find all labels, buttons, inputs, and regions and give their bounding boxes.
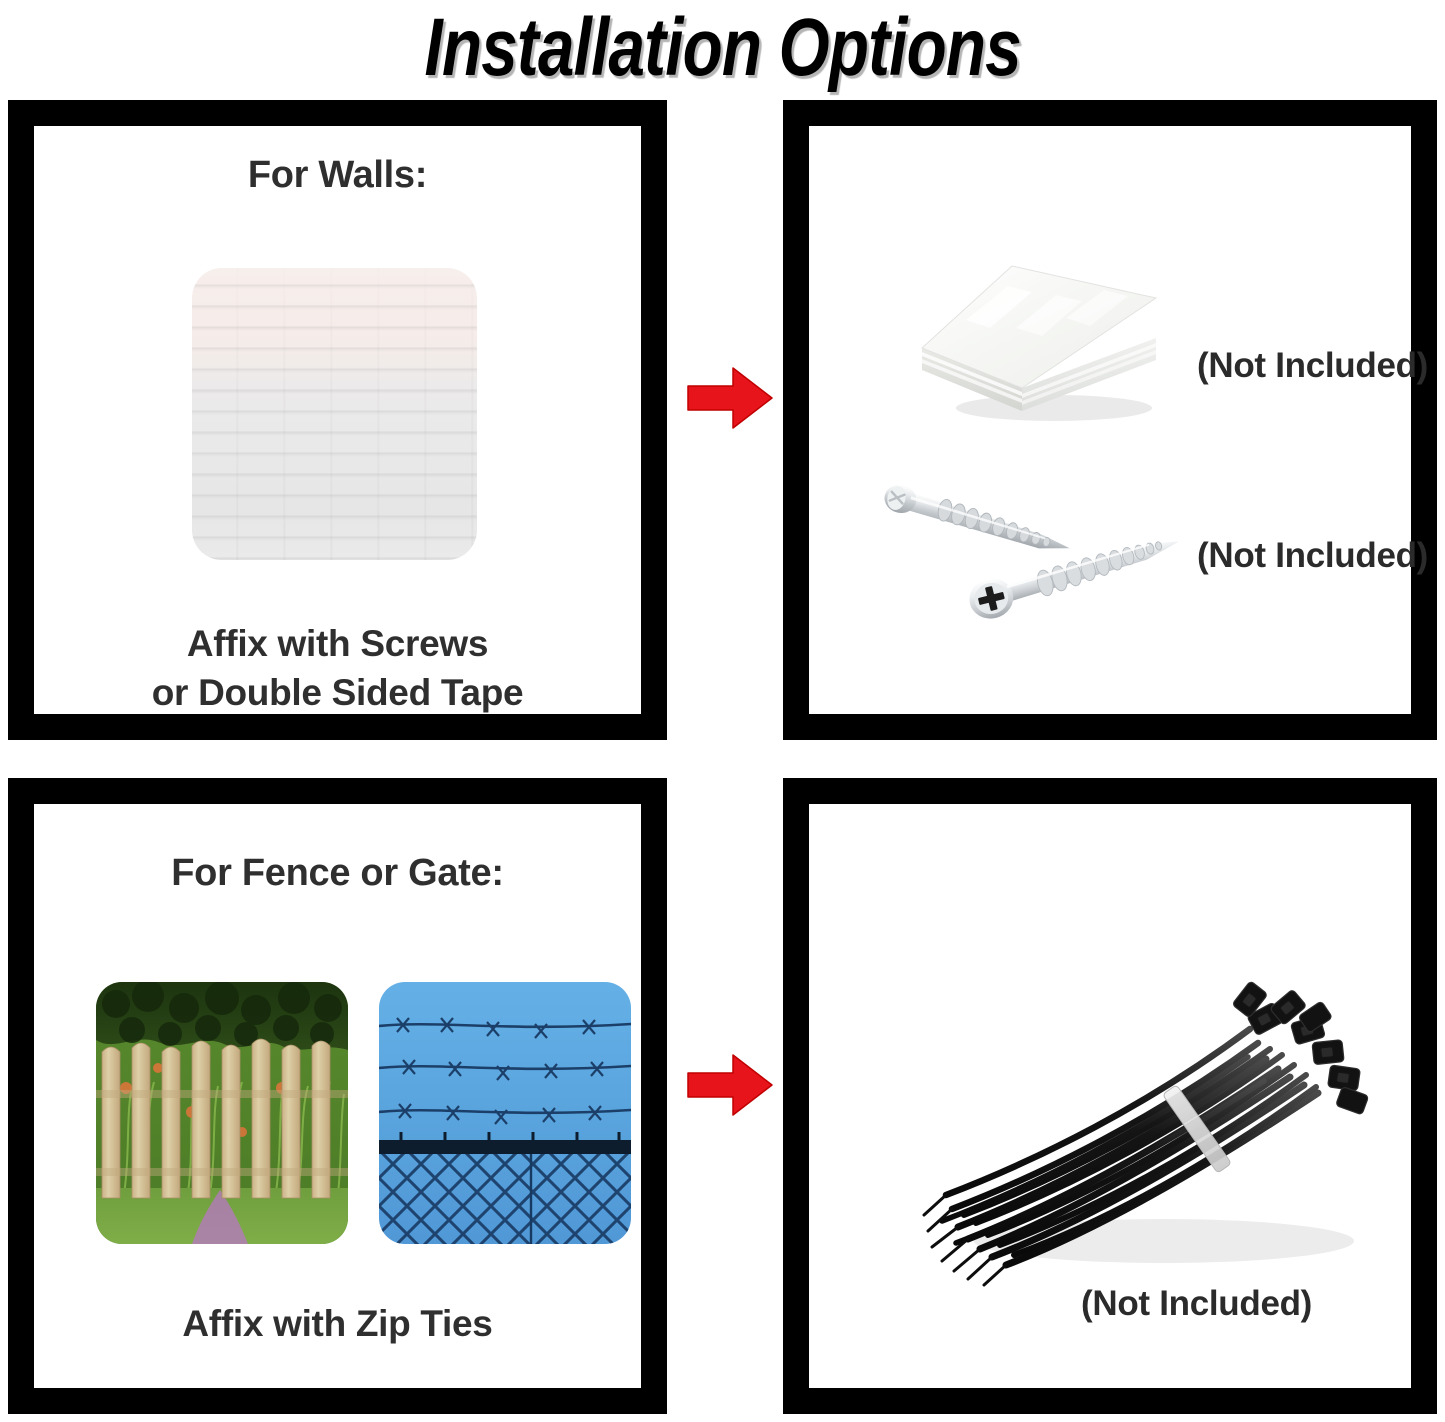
panel-wall-hardware: (Not Included) [783, 100, 1437, 740]
page-title: Installation Options [424, 7, 1020, 89]
screws-pair [869, 466, 1239, 656]
panel-zip-ties: (Not Included) [783, 778, 1437, 1414]
for-fence-caption: Affix with Zip Ties [34, 1300, 641, 1349]
panel-zip-ties-inner: (Not Included) [809, 804, 1411, 1388]
zip-ties-not-included-label: (Not Included) [1081, 1284, 1312, 1324]
panel-for-walls: For Walls: Affix with Screws or Double S… [8, 100, 667, 740]
double-sided-tape-stack [904, 248, 1174, 433]
panel-for-fence-or-gate: For Fence or Gate: [8, 778, 667, 1414]
tape-not-included-label: (Not Included) [1197, 346, 1428, 386]
black-zip-ties-bundle [914, 909, 1414, 1309]
for-walls-caption: Affix with Screws or Double Sided Tape [34, 620, 641, 718]
arrow-right-top-icon [686, 365, 774, 431]
panel-for-fence-or-gate-inner: For Fence or Gate: [34, 804, 641, 1388]
for-walls-caption-line2: or Double Sided Tape [34, 669, 641, 718]
panel-wall-hardware-inner: (Not Included) [809, 126, 1411, 714]
chain-link-barbed-wire-fence-photo [379, 982, 631, 1244]
white-brick-wall-photo [192, 268, 477, 560]
for-fence-heading: For Fence or Gate: [34, 852, 641, 895]
panel-for-walls-inner: For Walls: Affix with Screws or Double S… [34, 126, 641, 714]
for-walls-caption-line1: Affix with Screws [34, 620, 641, 669]
for-walls-heading: For Walls: [34, 154, 641, 197]
screws-not-included-label: (Not Included) [1197, 536, 1428, 576]
page-title-bar: Installation Options [0, 0, 1445, 96]
arrow-right-bottom-icon [686, 1052, 774, 1118]
wooden-picket-fence-photo [96, 982, 348, 1244]
